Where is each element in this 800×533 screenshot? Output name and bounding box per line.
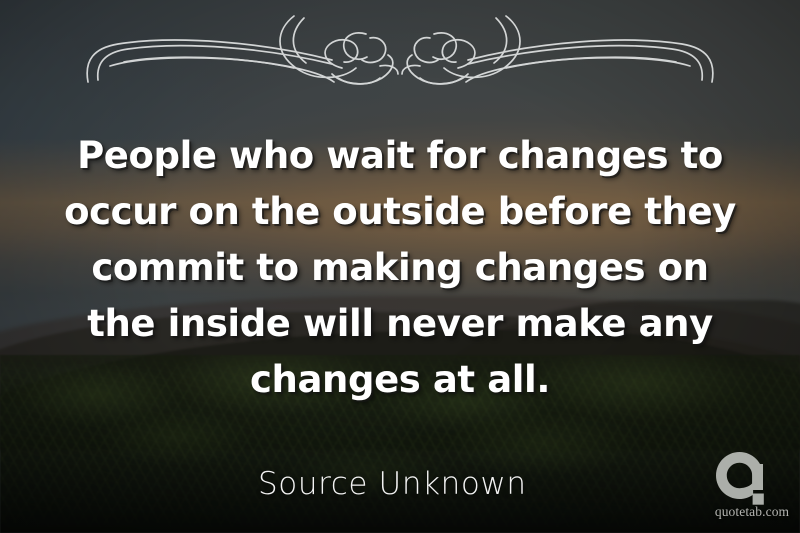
- quote-author: Source Unknown: [258, 466, 527, 502]
- quote-text: People who wait for changes to occur on …: [60, 128, 740, 408]
- flourish-ornament-icon: [80, 8, 720, 88]
- quotetab-logo-icon: [716, 452, 776, 506]
- watermark[interactable]: quotetab.com: [708, 452, 796, 526]
- watermark-label: quotetab.com: [708, 504, 796, 520]
- quote-image-card: People who wait for changes to occur on …: [0, 0, 800, 533]
